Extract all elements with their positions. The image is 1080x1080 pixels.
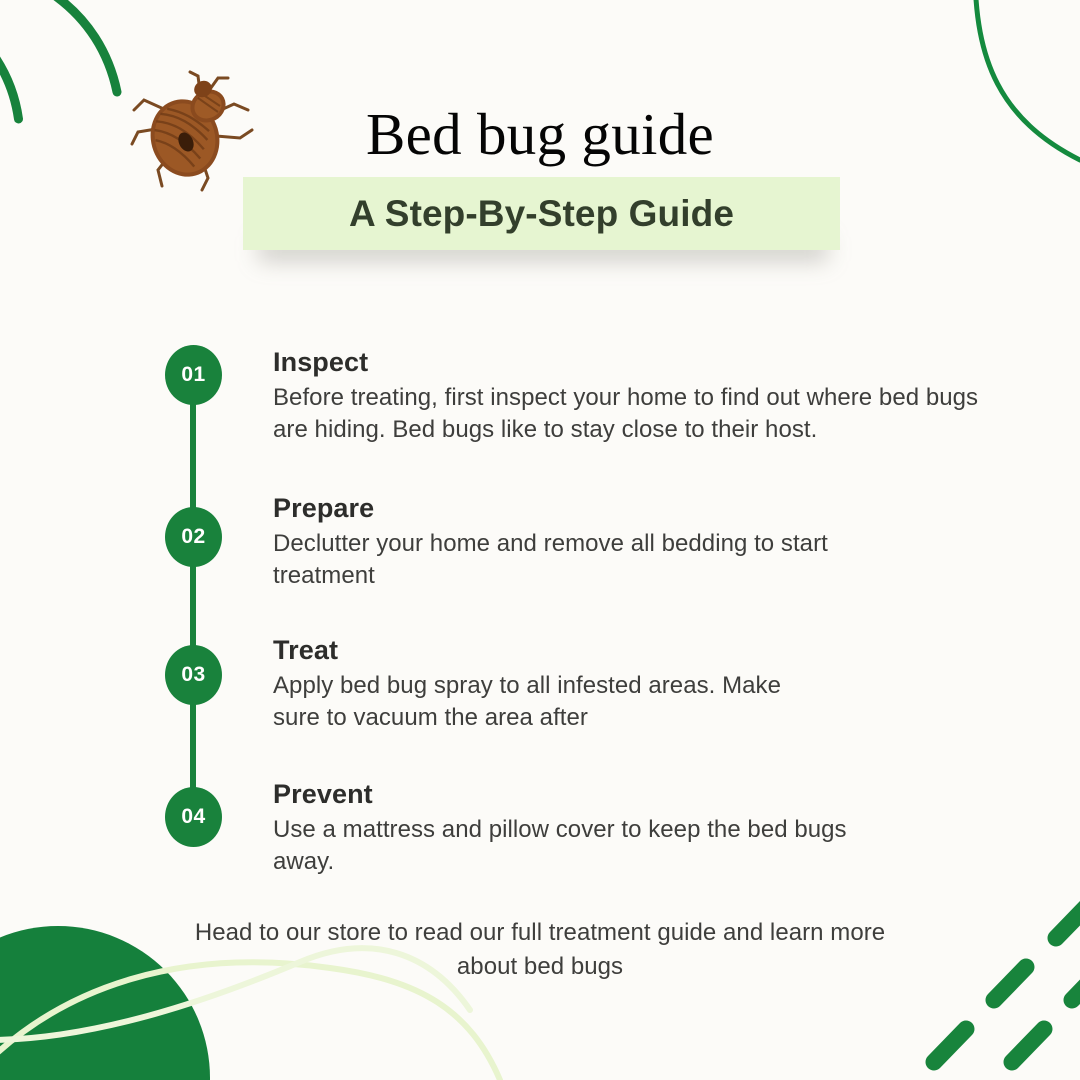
step-node-01[interactable]: 01 [165, 345, 222, 405]
step-title-03: Treat [273, 635, 833, 666]
step-number-03: 03 [181, 663, 205, 687]
step-title-01: Inspect [273, 347, 1013, 378]
step-description-02: Declutter your home and remove all beddi… [273, 528, 873, 592]
step-description-04: Use a mattress and pillow cover to keep … [273, 814, 873, 878]
step-node-04[interactable]: 04 [165, 787, 222, 847]
step-content-01: Inspect Before treating, first inspect y… [273, 347, 1013, 446]
step-number-04: 04 [181, 805, 205, 829]
footer-call-to-action: Head to our store to read our full treat… [190, 916, 890, 984]
step-title-04: Prevent [273, 779, 873, 810]
step-title-02: Prepare [273, 493, 873, 524]
step-node-02[interactable]: 02 [165, 507, 222, 567]
step-node-03[interactable]: 03 [165, 645, 222, 705]
step-number-01: 01 [181, 363, 205, 387]
step-description-01: Before treating, first inspect your home… [273, 382, 1013, 446]
step-description-03: Apply bed bug spray to all infested area… [273, 670, 833, 734]
poster-canvas: Bed bug guide A Step-By-Step Guide 01 02… [0, 0, 1080, 1080]
step-number-02: 02 [181, 525, 205, 549]
step-content-03: Treat Apply bed bug spray to all infeste… [273, 635, 833, 734]
step-content-02: Prepare Declutter your home and remove a… [273, 493, 873, 592]
step-content-04: Prevent Use a mattress and pillow cover … [273, 779, 873, 878]
